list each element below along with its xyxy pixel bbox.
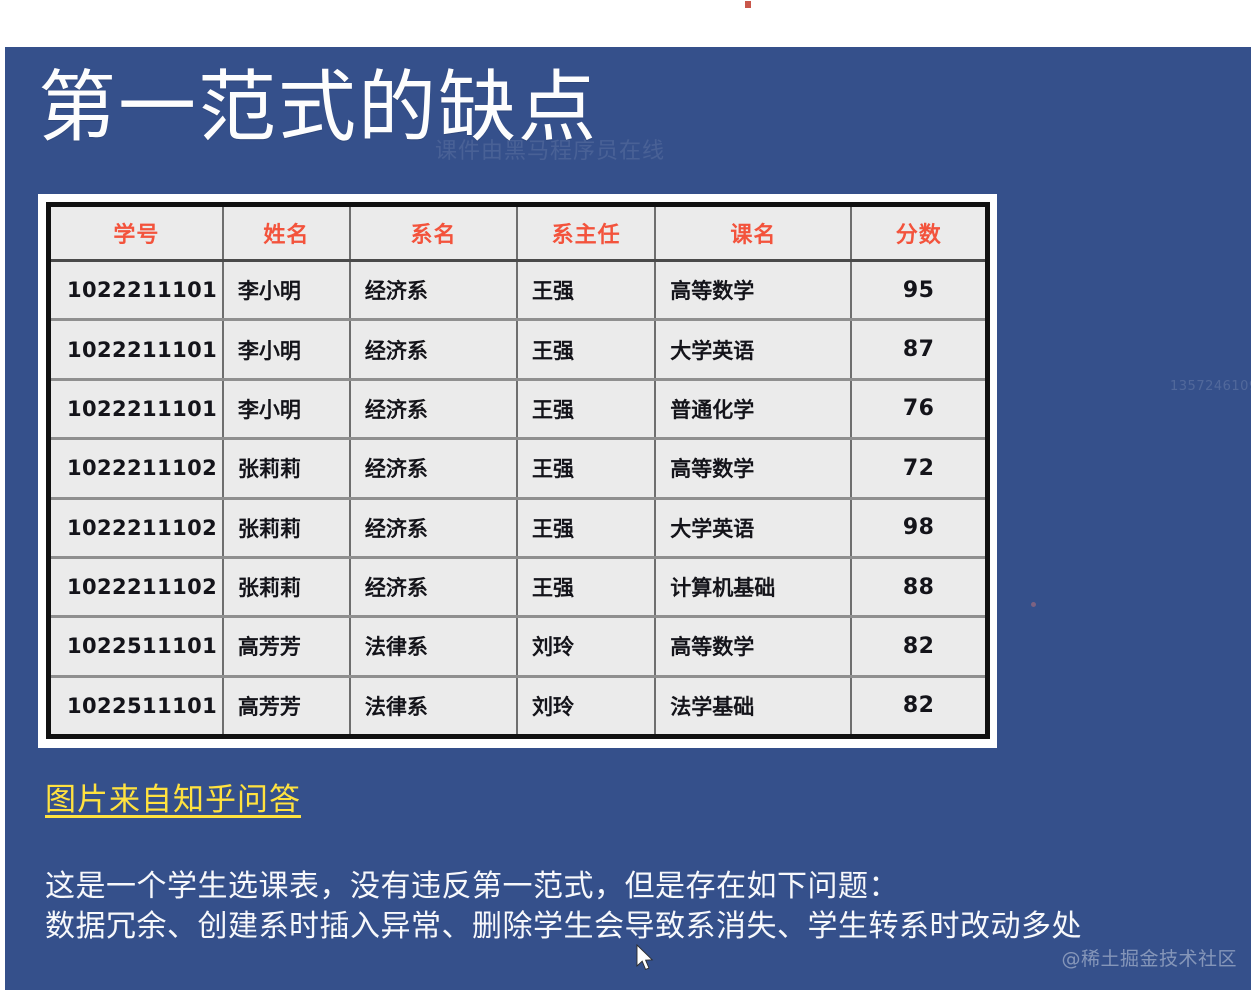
student-course-table: 学号 姓名 系名 系主任 课名 分数 1022211101 李小明 经济系 bbox=[51, 207, 985, 734]
cell-course: 法学基础 bbox=[655, 676, 851, 734]
cell-dept-head: 王强 bbox=[517, 557, 655, 616]
cell-dept-head: 王强 bbox=[517, 261, 655, 320]
cell-course: 高等数学 bbox=[655, 261, 851, 320]
cell-student-id: 1022211101 bbox=[51, 261, 223, 320]
column-header-dept-head: 系主任 bbox=[517, 207, 655, 261]
cell-department: 经济系 bbox=[350, 379, 517, 438]
column-header-course: 课名 bbox=[655, 207, 851, 261]
cell-name: 李小明 bbox=[223, 320, 350, 379]
source-link[interactable]: 图片来自知乎问答 bbox=[45, 774, 301, 819]
cell-course: 高等数学 bbox=[655, 439, 851, 498]
cell-score: 87 bbox=[851, 320, 985, 379]
cell-course: 普通化学 bbox=[655, 379, 851, 438]
cell-name: 李小明 bbox=[223, 261, 350, 320]
cell-score: 88 bbox=[851, 557, 985, 616]
table-row: 1022211102 张莉莉 经济系 王强 计算机基础 88 bbox=[51, 557, 985, 616]
cell-dept-head: 王强 bbox=[517, 379, 655, 438]
body-line-1: 这是一个学生选课表，没有违反第一范式，但是存在如下问题： bbox=[45, 867, 1245, 907]
table-inner-border: 学号 姓名 系名 系主任 课名 分数 1022211101 李小明 经济系 bbox=[46, 202, 990, 739]
cell-score: 72 bbox=[851, 439, 985, 498]
cell-student-id: 1022211101 bbox=[51, 320, 223, 379]
cell-student-id: 1022511101 bbox=[51, 617, 223, 676]
cell-score: 82 bbox=[851, 676, 985, 734]
cell-student-id: 1022211102 bbox=[51, 557, 223, 616]
column-header-score: 分数 bbox=[851, 207, 985, 261]
cell-dept-head: 刘玲 bbox=[517, 617, 655, 676]
table-row: 1022211101 李小明 经济系 王强 高等数学 95 bbox=[51, 261, 985, 320]
cell-score: 82 bbox=[851, 617, 985, 676]
cell-name: 张莉莉 bbox=[223, 557, 350, 616]
cell-dept-head: 王强 bbox=[517, 439, 655, 498]
phone-watermark: 13572461096 bbox=[1170, 379, 1251, 394]
table-row: 1022211101 李小明 经济系 王强 大学英语 87 bbox=[51, 320, 985, 379]
cell-department: 经济系 bbox=[350, 320, 517, 379]
cell-name: 张莉莉 bbox=[223, 498, 350, 557]
cell-course: 大学英语 bbox=[655, 320, 851, 379]
table-header-row: 学号 姓名 系名 系主任 课名 分数 bbox=[51, 207, 985, 261]
cell-department: 经济系 bbox=[350, 557, 517, 616]
cell-department: 经济系 bbox=[350, 498, 517, 557]
stray-dot-mark bbox=[1031, 602, 1036, 607]
slide-root: 第一范式的缺点 课件由黑马程序员在线 学号 姓名 系名 系主任 课名 bbox=[0, 0, 1251, 990]
top-white-margin bbox=[0, 0, 1251, 47]
cell-department: 法律系 bbox=[350, 617, 517, 676]
cell-name: 高芳芳 bbox=[223, 676, 350, 734]
table-row: 1022211102 张莉莉 经济系 王强 高等数学 72 bbox=[51, 439, 985, 498]
table-row: 1022511101 高芳芳 法律系 刘玲 高等数学 82 bbox=[51, 617, 985, 676]
cell-dept-head: 刘玲 bbox=[517, 676, 655, 734]
cell-student-id: 1022211102 bbox=[51, 498, 223, 557]
cell-dept-head: 王强 bbox=[517, 498, 655, 557]
conclusion-text: 结论：第一范式不够强 bbox=[45, 985, 350, 990]
mouse-cursor-icon bbox=[635, 944, 655, 972]
cell-department: 经济系 bbox=[350, 439, 517, 498]
column-header-student-id: 学号 bbox=[51, 207, 223, 261]
cell-department: 法律系 bbox=[350, 676, 517, 734]
cell-student-id: 1022511101 bbox=[51, 676, 223, 734]
cell-dept-head: 王强 bbox=[517, 320, 655, 379]
cell-course: 大学英语 bbox=[655, 498, 851, 557]
brand-watermark: @稀土掘金技术社区 bbox=[1061, 944, 1237, 971]
student-course-table-image: 学号 姓名 系名 系主任 课名 分数 1022211101 李小明 经济系 bbox=[38, 194, 997, 748]
cell-course: 计算机基础 bbox=[655, 557, 851, 616]
cell-name: 高芳芳 bbox=[223, 617, 350, 676]
table-row: 1022511101 高芳芳 法律系 刘玲 法学基础 82 bbox=[51, 676, 985, 734]
cell-student-id: 1022211102 bbox=[51, 439, 223, 498]
body-line-2: 数据冗余、创建系时插入异常、删除学生会导致系消失、学生转系时改动多处 bbox=[45, 907, 1245, 947]
table-row: 1022211101 李小明 经济系 王强 普通化学 76 bbox=[51, 379, 985, 438]
table-row: 1022211102 张莉莉 经济系 王强 大学英语 98 bbox=[51, 498, 985, 557]
cell-score: 95 bbox=[851, 261, 985, 320]
red-speck-mark bbox=[745, 1, 751, 8]
cell-name: 张莉莉 bbox=[223, 439, 350, 498]
slide-canvas: 第一范式的缺点 课件由黑马程序员在线 学号 姓名 系名 系主任 课名 bbox=[5, 47, 1251, 990]
title-ghost-watermark: 课件由黑马程序员在线 bbox=[435, 133, 665, 165]
column-header-name: 姓名 bbox=[223, 207, 350, 261]
cell-student-id: 1022211101 bbox=[51, 379, 223, 438]
cell-score: 98 bbox=[851, 498, 985, 557]
cell-department: 经济系 bbox=[350, 261, 517, 320]
column-header-department: 系名 bbox=[350, 207, 517, 261]
cell-name: 李小明 bbox=[223, 379, 350, 438]
cell-score: 76 bbox=[851, 379, 985, 438]
body-text: 这是一个学生选课表，没有违反第一范式，但是存在如下问题： 数据冗余、创建系时插入… bbox=[45, 867, 1245, 947]
cell-course: 高等数学 bbox=[655, 617, 851, 676]
